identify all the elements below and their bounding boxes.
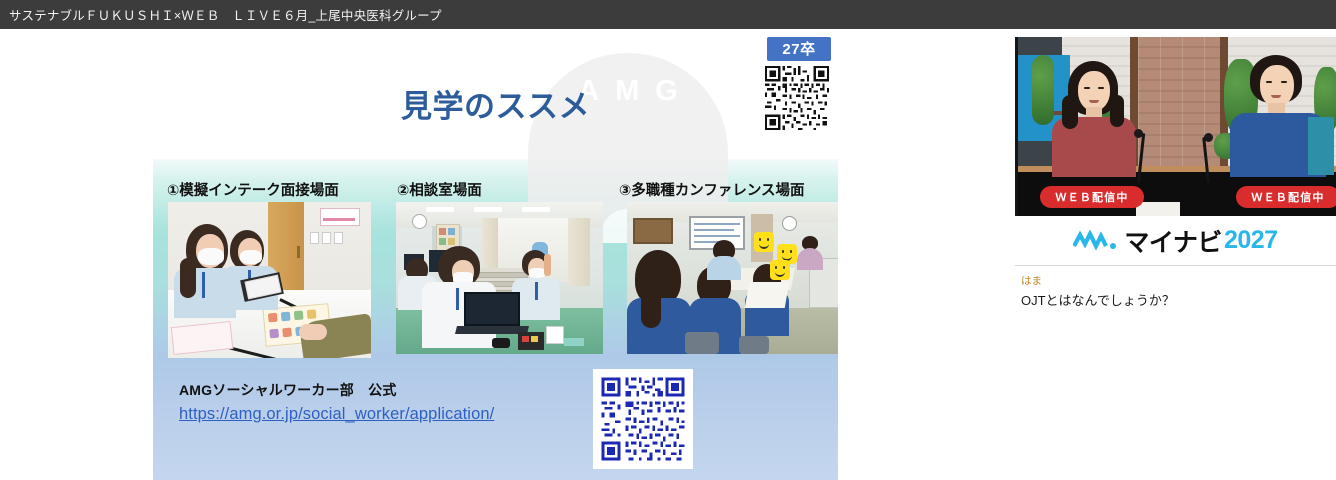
window-title: サステナブルＦＵＫＵＳＨＩ×ＷＥＢ ＬＩＶＥ６月_上尾中央医科グループ: [0, 5, 442, 24]
slide: AMG 見学のススメ 27卒: [153, 35, 838, 480]
qr-code-application-icon: [599, 375, 687, 463]
chat-message: はま OJTとはなんでしょうか？: [1021, 273, 1330, 310]
photo-consultation-room: [396, 202, 603, 354]
right-panel: ＷＥＢ配信中 ＷＥＢ配信中 マイナビ 2027 はま OJTとはなんでしょうか？: [1014, 29, 1336, 480]
web-live-badge-right: ＷＥＢ配信中: [1236, 186, 1336, 208]
chat-message-user: はま: [1021, 273, 1330, 288]
mynavi-brand-text: マイナビ: [1124, 223, 1222, 259]
chat-panel: はま OJTとはなんでしょうか？: [1015, 267, 1336, 480]
caption-1: ①模擬インテーク面接場面: [167, 179, 339, 200]
app-root: サステナブルＦＵＫＵＳＨＩ×ＷＥＢ ＬＩＶＥ６月_上尾中央医科グループ AMG …: [0, 0, 1336, 480]
qr-code-27sotsu-icon: [762, 63, 832, 133]
window-title-bar: サステナブルＦＵＫＵＳＨＩ×ＷＥＢ ＬＩＶＥ６月_上尾中央医科グループ: [0, 0, 1336, 29]
graduation-badge-group: 27卒: [762, 37, 836, 138]
photo-row: [167, 202, 838, 358]
live-video-stream[interactable]: ＷＥＢ配信中 ＷＥＢ配信中: [1015, 37, 1336, 216]
qr-code-application: [593, 369, 693, 469]
chat-message-text: OJTとはなんでしょうか？: [1021, 292, 1330, 310]
amg-department-label: AMGソーシャルワーカー部 公式: [179, 380, 397, 400]
presentation-stage: AMG 見学のススメ 27卒: [0, 29, 1014, 480]
smiley-sticker-3: [770, 260, 790, 280]
graduation-year-badge: 27卒: [767, 37, 831, 61]
mynavi-year-text: 2027: [1224, 226, 1278, 255]
photo-mock-intake-interview: [168, 202, 371, 358]
caption-2: ②相談室場面: [397, 179, 482, 200]
slide-title: 見学のススメ: [153, 81, 838, 126]
photo-multidisciplinary-conference: [627, 202, 838, 354]
slide-footer: AMGソーシャルワーカー部 公式 https://amg.or.jp/socia…: [171, 372, 821, 472]
web-live-badge-left: ＷＥＢ配信中: [1040, 186, 1144, 208]
mynavi-logo-bar: マイナビ 2027: [1015, 216, 1336, 266]
caption-3: ③多職種カンファレンス場面: [619, 179, 805, 200]
amg-application-url[interactable]: https://amg.or.jp/social_worker/applicat…: [179, 405, 494, 424]
mynavi-mark-icon: [1073, 230, 1119, 252]
smiley-sticker-1: [754, 232, 774, 252]
photo-captions: ①模擬インテーク面接場面 ②相談室場面 ③多職種カンファレンス場面: [159, 175, 832, 203]
